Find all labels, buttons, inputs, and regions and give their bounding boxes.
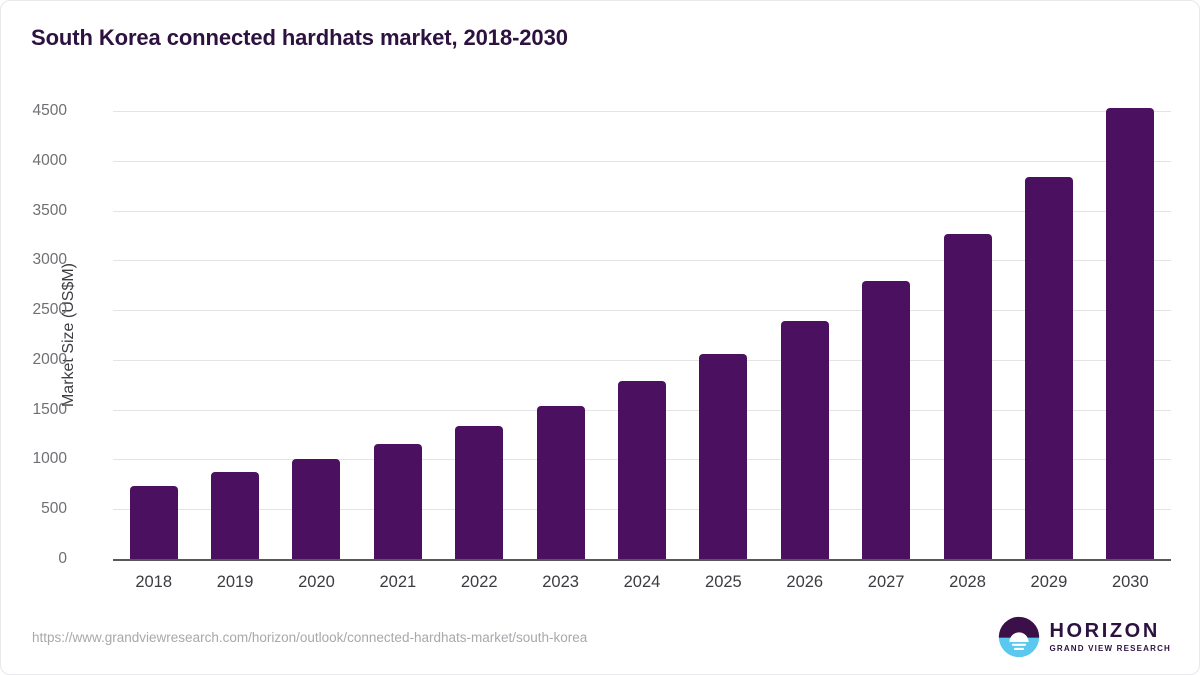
bar[interactable] [862, 281, 910, 559]
bar[interactable] [374, 444, 422, 559]
bar[interactable] [211, 472, 259, 559]
bar-slot: 2024 [601, 111, 682, 559]
y-tick-label: 3000 [0, 251, 67, 269]
plot-area: Market Size (US$M) 050010001500200025003… [113, 111, 1171, 559]
x-tick-label: 2023 [520, 573, 601, 592]
bar-slot: 2028 [927, 111, 1008, 559]
bar-series: 2018201920202021202220232024202520262027… [113, 111, 1171, 559]
bar[interactable] [618, 381, 666, 559]
bar-slot: 2025 [683, 111, 764, 559]
horizon-logo: HORIZON GRAND VIEW RESEARCH [998, 616, 1171, 658]
bar-slot: 2030 [1090, 111, 1171, 559]
y-tick-label: 0 [0, 550, 67, 568]
x-tick-label: 2026 [764, 573, 845, 592]
bar[interactable] [292, 459, 340, 559]
bar[interactable] [537, 406, 585, 559]
y-axis-title: Market Size (US$M) [60, 263, 78, 407]
source-url[interactable]: https://www.grandviewresearch.com/horizo… [32, 630, 587, 645]
bar-slot: 2019 [194, 111, 275, 559]
x-tick-label: 2020 [276, 573, 357, 592]
x-tick-label: 2022 [439, 573, 520, 592]
logo-tagline: GRAND VIEW RESEARCH [1049, 645, 1171, 653]
x-tick-label: 2025 [683, 573, 764, 592]
y-tick-label: 1000 [0, 450, 67, 468]
bar-slot: 2020 [276, 111, 357, 559]
bar[interactable] [781, 321, 829, 559]
x-tick-label: 2019 [194, 573, 275, 592]
y-tick-label: 4500 [0, 102, 67, 120]
bar-slot: 2023 [520, 111, 601, 559]
logo-name: HORIZON [1049, 621, 1171, 641]
x-tick-label: 2030 [1090, 573, 1171, 592]
x-tick-label: 2024 [601, 573, 682, 592]
horizon-logo-text: HORIZON GRAND VIEW RESEARCH [1049, 621, 1171, 653]
y-tick-label: 1500 [0, 401, 67, 419]
bar-slot: 2021 [357, 111, 438, 559]
x-tick-label: 2018 [113, 573, 194, 592]
page-title: South Korea connected hardhats market, 2… [31, 25, 568, 51]
bar[interactable] [699, 354, 747, 559]
bar-slot: 2026 [764, 111, 845, 559]
horizon-logo-icon [998, 616, 1040, 658]
bar-slot: 2018 [113, 111, 194, 559]
bar-slot: 2029 [1008, 111, 1089, 559]
y-tick-label: 4000 [0, 152, 67, 170]
bar[interactable] [455, 426, 503, 559]
bar[interactable] [1025, 177, 1073, 559]
x-tick-label: 2021 [357, 573, 438, 592]
y-tick-label: 3500 [0, 202, 67, 220]
bar[interactable] [130, 486, 178, 559]
bar[interactable] [1106, 108, 1154, 559]
bar-slot: 2022 [439, 111, 520, 559]
bar-slot: 2027 [845, 111, 926, 559]
x-tick-label: 2029 [1008, 573, 1089, 592]
y-tick-label: 2500 [0, 301, 67, 319]
chart-card: South Korea connected hardhats market, 2… [0, 0, 1200, 675]
y-tick-label: 2000 [0, 351, 67, 369]
x-tick-label: 2028 [927, 573, 1008, 592]
y-tick-label: 500 [0, 500, 67, 518]
x-tick-label: 2027 [845, 573, 926, 592]
x-axis-line [113, 559, 1171, 561]
bar[interactable] [944, 234, 992, 559]
